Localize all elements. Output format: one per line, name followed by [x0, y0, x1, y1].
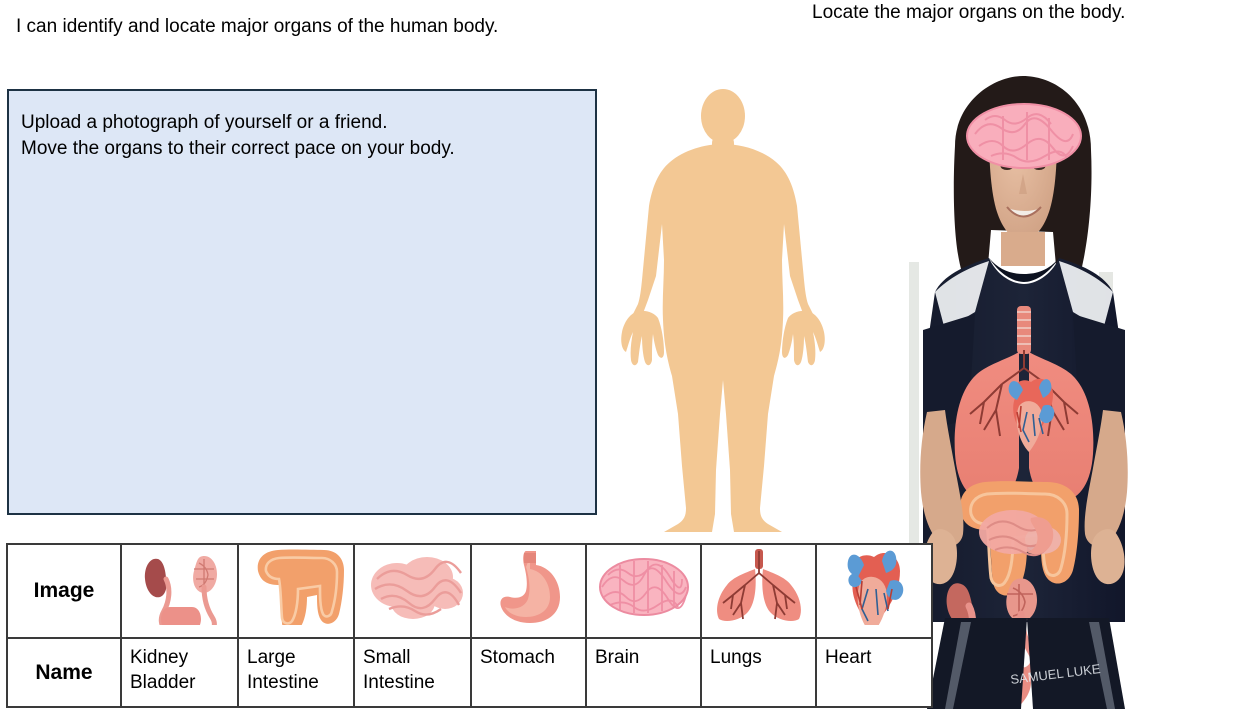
organ-name-line1: Kidney	[122, 639, 237, 670]
organ-reference-table: Image	[6, 543, 933, 708]
organ-cell-lungs[interactable]	[701, 544, 816, 638]
stomach-icon	[472, 545, 585, 625]
organ-name-line1: Heart	[817, 639, 931, 670]
human-body-silhouette[interactable]	[612, 84, 834, 536]
organ-name-cell-small-intestine[interactable]: Small Intestine	[354, 638, 471, 707]
organ-name-line1: Large	[239, 639, 353, 670]
worksheet-canvas: I can identify and locate major organs o…	[0, 0, 1254, 709]
large-intestine-icon	[239, 545, 353, 625]
organ-cell-heart[interactable]	[816, 544, 932, 638]
organ-name-cell-brain[interactable]: Brain	[586, 638, 701, 707]
table-row-image: Image	[7, 544, 932, 638]
organ-name-line1: Brain	[587, 639, 700, 670]
instruction-box[interactable]: Upload a photograph of yourself or a fri…	[7, 89, 597, 515]
brain-icon	[587, 545, 700, 625]
organ-name-cell-heart[interactable]: Heart	[816, 638, 932, 707]
lungs-icon	[702, 545, 815, 625]
organ-cell-brain[interactable]	[586, 544, 701, 638]
organ-name-cell-lungs[interactable]: Lungs	[701, 638, 816, 707]
page-task-text: Locate the major organs on the body.	[812, 2, 1125, 24]
student-photo-with-organ-overlays[interactable]: SAMUEL LUKE	[893, 62, 1254, 709]
organ-cell-large-intestine[interactable]	[238, 544, 354, 638]
organ-name-cell-kidney-bladder[interactable]: Kidney Bladder	[121, 638, 238, 707]
organ-cell-kidney-bladder[interactable]	[121, 544, 238, 638]
organ-name-line1: Lungs	[702, 639, 815, 670]
organ-name-cell-large-intestine[interactable]: Large Intestine	[238, 638, 354, 707]
page-objective-text: I can identify and locate major organs o…	[16, 16, 498, 38]
kidney-bladder-icon	[122, 545, 237, 625]
organ-cell-small-intestine[interactable]	[354, 544, 471, 638]
instruction-line-1: Upload a photograph of yourself or a fri…	[21, 110, 595, 136]
organ-name-line2: Intestine	[239, 670, 353, 695]
heart-icon	[817, 545, 931, 625]
organ-name-line2: Bladder	[122, 670, 237, 695]
organ-name-line2: Intestine	[355, 670, 470, 695]
organ-cell-stomach[interactable]	[471, 544, 586, 638]
small-intestine-icon	[355, 545, 470, 625]
row-header-name: Name	[7, 638, 121, 707]
row-header-image: Image	[7, 544, 121, 638]
organ-name-line1: Stomach	[472, 639, 585, 670]
organ-name-cell-stomach[interactable]: Stomach	[471, 638, 586, 707]
organ-name-line1: Small	[355, 639, 470, 670]
table-row-name: Name Kidney Bladder Large Intestine Smal…	[7, 638, 932, 707]
instruction-line-2: Move the organs to their correct pace on…	[21, 136, 595, 162]
